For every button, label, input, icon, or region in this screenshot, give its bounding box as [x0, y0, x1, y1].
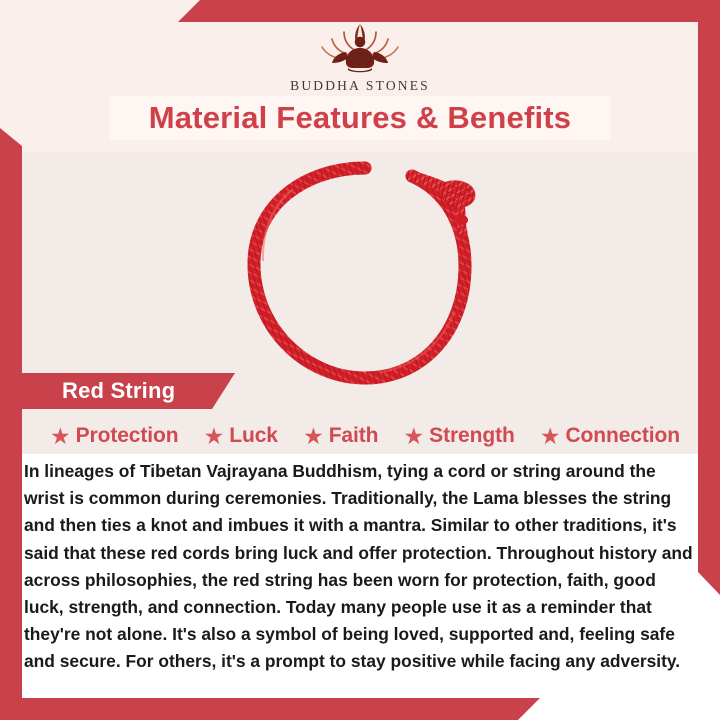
title-banner: Material Features & Benefits: [110, 96, 610, 140]
benefit-label: Protection: [76, 424, 179, 448]
star-icon: ★: [303, 425, 324, 448]
benefit-item-faith: ★ Faith: [303, 424, 378, 448]
benefit-item-connection: ★ Connection: [540, 424, 680, 448]
benefit-item-protection: ★ Protection: [50, 424, 178, 448]
star-icon: ★: [404, 425, 425, 448]
product-name-label: Red String: [62, 378, 175, 404]
description-text: In lineages of Tibetan Vajrayana Buddhis…: [24, 458, 696, 676]
benefit-label: Faith: [329, 424, 379, 448]
brand-name: BUDDHA STONES: [290, 78, 430, 94]
page-title: Material Features & Benefits: [149, 100, 572, 136]
red-braided-bracelet-photo: [232, 160, 498, 386]
decorative-bar-left: [0, 128, 22, 710]
star-icon: ★: [50, 425, 71, 448]
benefit-label: Luck: [229, 424, 278, 448]
product-name-banner: Red String: [0, 373, 235, 409]
star-icon: ★: [204, 425, 225, 448]
star-icon: ★: [540, 425, 561, 448]
benefit-label: Connection: [565, 424, 680, 448]
benefit-label: Strength: [429, 424, 515, 448]
lotus-meditation-icon: [308, 18, 412, 74]
benefit-item-luck: ★ Luck: [204, 424, 278, 448]
infographic-page: BUDDHA STONES Material Features & Benefi…: [0, 0, 720, 720]
benefit-item-strength: ★ Strength: [404, 424, 515, 448]
product-image: [232, 160, 498, 386]
brand-logo: BUDDHA STONES: [0, 18, 720, 94]
benefits-row: ★ Protection ★ Luck ★ Faith ★ Strength ★…: [50, 420, 680, 452]
decorative-bar-right: [698, 10, 720, 595]
